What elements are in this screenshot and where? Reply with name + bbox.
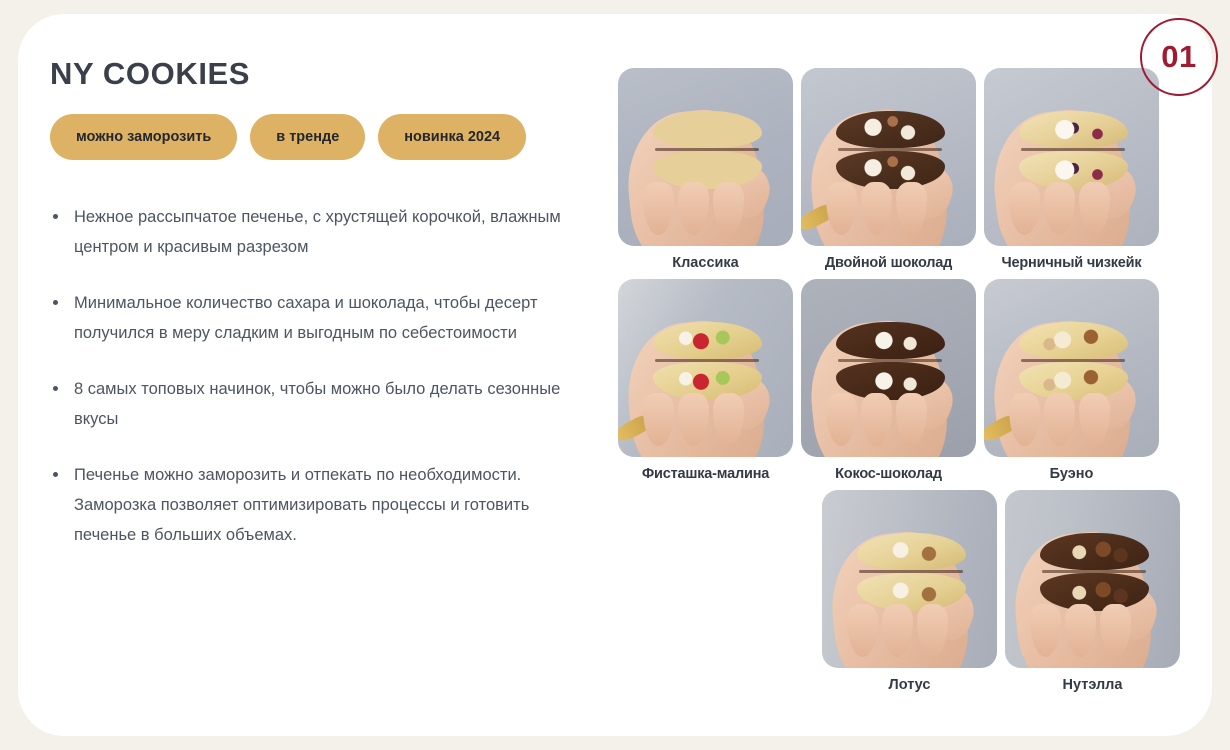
cookie-photo-nutella bbox=[1005, 490, 1180, 668]
cookie-shape bbox=[1019, 111, 1128, 189]
tag-pill-freeze[interactable]: можно заморозить bbox=[50, 114, 237, 160]
fingers-shape bbox=[643, 393, 745, 446]
cookie-photo-blueberry-cheesecake bbox=[984, 68, 1159, 246]
fingers-shape bbox=[643, 182, 745, 235]
fingers-shape bbox=[847, 604, 949, 657]
fingers-shape bbox=[1009, 182, 1111, 235]
page-number-badge: 01 bbox=[1140, 18, 1218, 96]
bullet-item: Нежное рассыпчатое печенье, с хрустящей … bbox=[50, 202, 590, 262]
left-content-column: NY COOKIES можно заморозить в тренде нов… bbox=[50, 56, 610, 576]
cookie-shape bbox=[1019, 322, 1128, 400]
photo-grid-row: Классика Двойной шоколад bbox=[618, 68, 1180, 271]
tag-pill-group: можно заморозить в тренде новинка 2024 bbox=[50, 114, 610, 160]
cookie-card-blueberry-cheesecake[interactable]: Черничный чизкейк bbox=[984, 68, 1159, 271]
cookie-shape bbox=[1040, 533, 1149, 611]
cookie-photo-grid: Классика Двойной шоколад bbox=[618, 68, 1180, 701]
cookie-shape bbox=[653, 322, 762, 400]
cookie-caption: Двойной шоколад bbox=[801, 255, 976, 271]
slide-root: 01 NY COOKIES можно заморозить в тренде … bbox=[0, 0, 1230, 750]
bullet-item: Печенье можно заморозить и отпекать по н… bbox=[50, 460, 590, 550]
cookie-caption: Кокос-шоколад bbox=[801, 466, 976, 482]
cookie-photo-lotus bbox=[822, 490, 997, 668]
cookie-caption: Фисташка-малина bbox=[618, 466, 793, 482]
fingers-shape bbox=[1030, 604, 1132, 657]
bullet-item: Минимальное количество сахара и шоколада… bbox=[50, 288, 590, 348]
cookie-caption: Классика bbox=[618, 255, 793, 271]
cookie-shape bbox=[653, 111, 762, 189]
cookie-shape bbox=[857, 533, 966, 611]
cookie-card-nutella[interactable]: Нутэлла bbox=[1005, 490, 1180, 693]
cookie-shape bbox=[836, 111, 945, 189]
cookie-caption: Черничный чизкейк bbox=[984, 255, 1159, 271]
cookie-caption: Лотус bbox=[822, 677, 997, 693]
cookie-shape bbox=[836, 322, 945, 400]
cookie-card-classic[interactable]: Классика bbox=[618, 68, 793, 271]
cookie-caption: Нутэлла bbox=[1005, 677, 1180, 693]
cookie-photo-double-chocolate bbox=[801, 68, 976, 246]
tag-pill-new-2024[interactable]: новинка 2024 bbox=[378, 114, 526, 160]
photo-grid-row: Лотус Нутэлла bbox=[618, 490, 1180, 693]
fingers-shape bbox=[1009, 393, 1111, 446]
cookie-photo-coconut-chocolate bbox=[801, 279, 976, 457]
fingers-shape bbox=[826, 182, 928, 235]
cookie-photo-classic bbox=[618, 68, 793, 246]
cookie-photo-bueno bbox=[984, 279, 1159, 457]
cookie-card-pistachio-raspberry[interactable]: Фисташка-малина bbox=[618, 279, 793, 482]
cookie-card-lotus[interactable]: Лотус bbox=[822, 490, 997, 693]
cookie-photo-pistachio-raspberry bbox=[618, 279, 793, 457]
photo-grid-row: Фисташка-малина Кокос-шоколад bbox=[618, 279, 1180, 482]
cookie-card-bueno[interactable]: Буэно bbox=[984, 279, 1159, 482]
cookie-caption: Буэно bbox=[984, 466, 1159, 482]
cookie-card-coconut-chocolate[interactable]: Кокос-шоколад bbox=[801, 279, 976, 482]
page-title: NY COOKIES bbox=[50, 56, 610, 92]
page-number-label: 01 bbox=[1161, 39, 1196, 75]
feature-bullet-list: Нежное рассыпчатое печенье, с хрустящей … bbox=[50, 202, 610, 550]
cookie-card-double-chocolate[interactable]: Двойной шоколад bbox=[801, 68, 976, 271]
fingers-shape bbox=[826, 393, 928, 446]
bullet-item: 8 самых топовых начинок, чтобы можно был… bbox=[50, 374, 590, 434]
tag-pill-trending[interactable]: в тренде bbox=[250, 114, 365, 160]
